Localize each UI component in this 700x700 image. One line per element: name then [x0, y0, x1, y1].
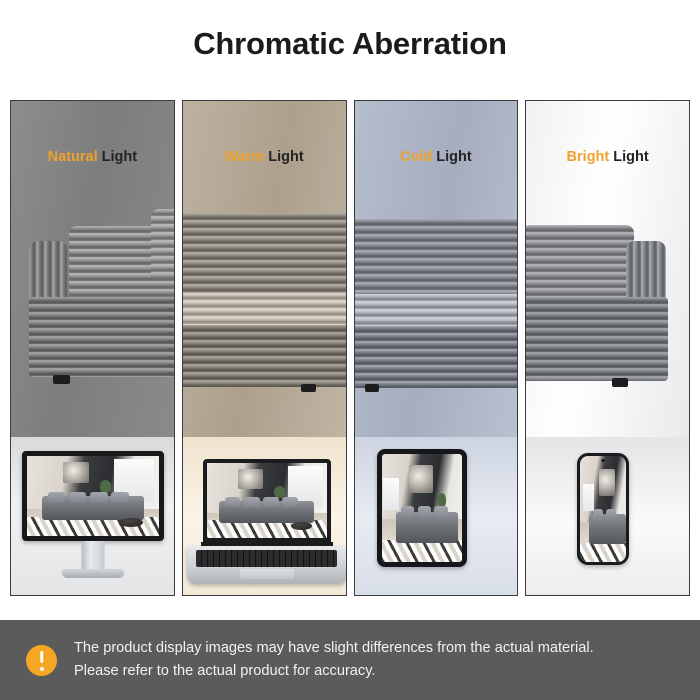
disclaimer-bar: The product display images may have slig… — [0, 620, 700, 700]
monitor-screen — [22, 451, 164, 541]
panel-label-highlight: Warm — [225, 149, 265, 165]
panel-cold-light[interactable]: Cold Light — [354, 100, 519, 596]
sofa-seat — [182, 293, 347, 329]
sofa-arm — [626, 241, 666, 305]
laptop-base — [187, 546, 347, 584]
panel-label-rest: Light — [609, 149, 648, 165]
laptop-screen — [203, 459, 331, 542]
sofa-base — [182, 325, 347, 387]
device-tablet[interactable] — [377, 449, 467, 573]
sofa-seat — [354, 294, 519, 330]
panel-label-bright-light: Bright Light — [526, 149, 689, 165]
phone-screen — [577, 453, 629, 565]
sofa-foot — [53, 375, 70, 384]
laptop-trackpad[interactable] — [240, 569, 294, 580]
sofa-base — [354, 326, 519, 388]
device-smartphone[interactable] — [577, 453, 629, 571]
sofa-seat — [29, 297, 175, 377]
panel-label-highlight: Bright — [567, 149, 610, 165]
panel-bright-light[interactable]: Bright Light — [525, 100, 690, 596]
light-condition-panels: Natural Light — [10, 100, 690, 596]
disclaimer-line-2: Please refer to the actual product for a… — [74, 660, 594, 683]
monitor-screen-content — [27, 456, 159, 536]
tablet-screen-content — [382, 454, 462, 562]
sofa-back-cushion — [354, 219, 519, 299]
sofa-foot — [301, 384, 316, 392]
sofa-seat — [525, 297, 668, 381]
panel-label-highlight: Natural — [48, 149, 98, 165]
panel-natural-light[interactable]: Natural Light — [10, 100, 175, 596]
sofa-back-cushion-far — [151, 209, 175, 279]
panel-label-highlight: Cold — [400, 149, 432, 165]
page-title: Chromatic Aberration — [0, 26, 700, 62]
laptop-screen-content — [207, 463, 327, 538]
device-desktop-monitor[interactable] — [22, 451, 164, 591]
panel-warm-light[interactable]: Warm Light — [182, 100, 347, 596]
panel-label-warm-light: Warm Light — [183, 149, 346, 165]
disclaimer-text: The product display images may have slig… — [74, 637, 594, 682]
chromatic-aberration-infographic: Chromatic Aberration Natural Light — [0, 0, 700, 700]
sofa-back-cushion — [182, 213, 347, 298]
tablet-screen — [377, 449, 467, 567]
warning-exclamation-icon — [26, 645, 57, 676]
device-laptop[interactable] — [187, 459, 347, 589]
panel-label-natural-light: Natural Light — [11, 149, 174, 165]
sofa-foot — [612, 378, 628, 387]
sofa-foot — [365, 384, 379, 392]
monitor-neck — [82, 541, 105, 571]
phone-front-camera-icon — [602, 459, 605, 462]
phone-screen-content — [580, 456, 626, 562]
sofa-back-cushion — [525, 225, 634, 299]
monitor-base — [62, 569, 124, 578]
panel-label-rest: Light — [264, 149, 303, 165]
sofa-arm — [29, 241, 67, 301]
disclaimer-line-1: The product display images may have slig… — [74, 637, 594, 660]
laptop-keyboard[interactable] — [196, 550, 337, 567]
panel-label-rest: Light — [98, 149, 137, 165]
panel-label-rest: Light — [432, 149, 471, 165]
panel-label-cold-light: Cold Light — [355, 149, 518, 165]
